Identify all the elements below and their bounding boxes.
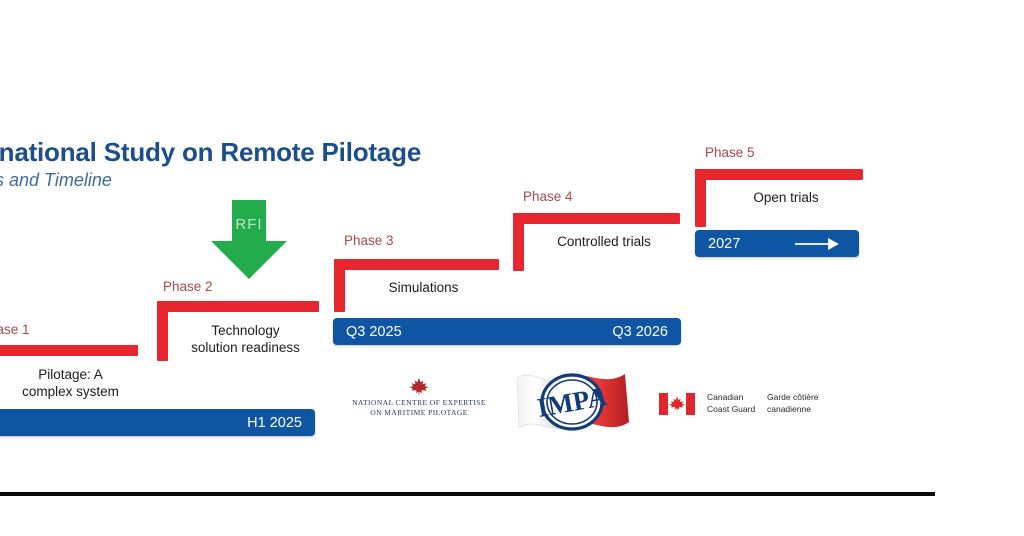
phase-4-label: Phase 4 <box>523 189 573 204</box>
timeline-bar-3-left-label: 2027 <box>708 236 740 252</box>
phase-3-bracket-top <box>334 259 499 270</box>
phase-1-label: Phase 1 <box>0 322 30 337</box>
phase-4-description: Controlled trials <box>525 234 683 251</box>
phase-1-description: Pilotage: A complex system <box>0 367 153 401</box>
nce-logo-line1: NATIONAL CENTRE OF EXPERTISE <box>352 398 486 408</box>
phase-4-bracket-top <box>513 213 680 224</box>
bottom-divider <box>0 492 935 496</box>
ccg-en-line2: Coast Guard <box>707 404 767 416</box>
nce-logo-line2: ON MARITIME PILOTAGE <box>352 408 486 418</box>
impa-flag-icon: IMPA <box>513 366 635 438</box>
timeline-bar-1[interactable]: H1 2025 <box>0 409 315 436</box>
timeline-bar-2-left-label: Q3 2025 <box>346 324 402 340</box>
phase-5-bracket-top <box>695 169 863 180</box>
phase-4-bracket-side <box>513 213 524 271</box>
phase-2-bracket-top <box>157 301 319 312</box>
phase-2-description: Technology solution readiness <box>168 323 323 357</box>
impa-logo: IMPA <box>513 366 635 443</box>
ccg-fr-line2: canadienne <box>767 404 837 416</box>
rfi-callout: RFI <box>206 196 292 282</box>
right-arrow-icon <box>795 238 843 250</box>
timeline-bar-2[interactable]: Q3 2025 Q3 2026 <box>333 318 681 345</box>
ccg-en-line1: Canadian <box>707 392 767 404</box>
timeline-bar-1-right-label: H1 2025 <box>247 415 302 431</box>
page-title: ternational Study on Remote Pilotage <box>0 138 421 168</box>
phase-5-description: Open trials <box>707 190 865 207</box>
page-subtitle: ases and Timeline <box>0 170 421 192</box>
canada-flag-icon <box>659 393 695 415</box>
title-block: ternational Study on Remote Pilotage ase… <box>0 138 421 191</box>
down-arrow-icon <box>206 196 292 282</box>
phase-3-description: Simulations <box>346 280 501 297</box>
nce-logo: NATIONAL CENTRE OF EXPERTISE ON MARITIME… <box>352 378 486 418</box>
canadian-coast-guard-logo: Canadian Coast Guard Garde côtière canad… <box>659 392 837 416</box>
timeline-bar-3[interactable]: 2027 <box>695 230 859 257</box>
phase-5-label: Phase 5 <box>705 145 755 160</box>
phase-5-bracket-side <box>695 169 706 227</box>
phase-3-bracket-side <box>334 259 345 312</box>
phase-3-label: Phase 3 <box>344 233 394 248</box>
ccg-wordmark: Canadian Coast Guard Garde côtière canad… <box>707 392 837 416</box>
phase-1-bracket-top <box>0 345 138 356</box>
ccg-fr-line1: Garde côtière <box>767 392 837 404</box>
maple-leaf-icon <box>409 378 429 396</box>
timeline-bar-2-right-label: Q3 2026 <box>612 324 668 340</box>
slide-canvas: ternational Study on Remote Pilotage ase… <box>0 0 1024 536</box>
phase-2-bracket-side <box>157 301 168 361</box>
